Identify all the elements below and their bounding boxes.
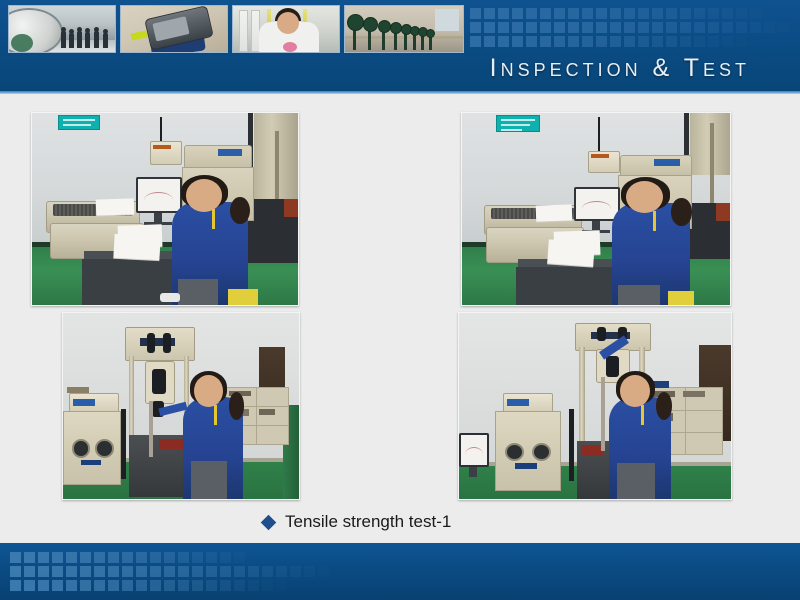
bl-machine-grip — [147, 333, 155, 352]
br-monitor-stand — [469, 467, 477, 477]
br-machine-jaw — [606, 356, 619, 377]
pattern-row — [10, 566, 329, 577]
br-technician-head — [620, 375, 650, 407]
tl-technician-shoe — [160, 293, 180, 302]
bl-console-label — [81, 460, 101, 466]
tr-wall-box — [588, 151, 620, 173]
bl-specimen — [149, 401, 153, 457]
tl-printout — [96, 198, 135, 215]
tl-technician-head — [186, 179, 222, 212]
photo-bottom-right — [458, 312, 732, 500]
pattern-row — [470, 8, 800, 19]
br-monitor-screen — [461, 435, 487, 465]
tr-machine-badge — [716, 203, 730, 221]
br-controller-box — [503, 393, 553, 413]
br-console-dial — [532, 443, 551, 461]
photo-top-left — [31, 112, 299, 306]
thumb1-person — [94, 31, 99, 48]
tl-technician-hair-bun — [230, 197, 250, 225]
bl-console-dial — [95, 439, 114, 457]
thumb4-window — [435, 9, 459, 31]
bl-machine-jaw — [152, 369, 166, 395]
header-square-pattern — [470, 8, 800, 50]
tr-technician-trousers — [618, 285, 660, 305]
br-shelf-item — [683, 391, 705, 397]
tl-technician-trousers — [178, 279, 218, 305]
br-technician-badge — [641, 405, 644, 425]
tr-technician-badge — [653, 211, 657, 231]
bl-technician-head — [194, 375, 223, 407]
thumb2-instrument-screen — [152, 16, 189, 41]
tl-machine-badge — [284, 199, 298, 217]
thumb3-burette — [239, 10, 248, 52]
diamond-bullet-icon — [261, 514, 277, 530]
br-hydraulic-hose — [569, 409, 574, 481]
br-control-console — [495, 411, 561, 491]
br-machine-column — [579, 347, 584, 447]
br-technician-hair-bun — [656, 392, 672, 419]
tl-technician-badge — [212, 209, 216, 229]
thumbnail-lab-technician — [232, 5, 340, 53]
tl-documents — [113, 234, 160, 260]
thumb4-valve-knob — [363, 17, 378, 32]
tl-instrument-display — [218, 149, 242, 156]
tr-machine-ram — [710, 123, 714, 213]
tl-wall-box — [150, 141, 182, 165]
thumbnail-factory-aisle — [8, 5, 116, 53]
bl-console-dial — [72, 439, 91, 457]
thumb1-person — [69, 33, 74, 48]
tr-desk — [516, 267, 622, 305]
bl-controller-box — [69, 393, 119, 413]
thumb3-sample-flask — [283, 42, 297, 52]
pattern-row — [470, 22, 800, 33]
slide-body — [0, 94, 800, 543]
photo-top-right — [461, 112, 731, 306]
thumbnail-handheld-instrument — [120, 5, 228, 53]
footer-square-pattern — [10, 552, 329, 594]
bl-shelf-item — [259, 409, 275, 415]
bl-console-top-item — [67, 387, 89, 393]
slide-header: Inspection & Test — [0, 0, 800, 91]
thumb1-person — [85, 32, 90, 48]
header-thumbnail-strip — [8, 5, 464, 53]
tr-instrument-display — [654, 159, 680, 166]
br-monitor — [459, 433, 489, 467]
thumb3-face — [277, 12, 299, 34]
thumb4-valve-knob — [347, 14, 364, 31]
bl-technician-hair-bun — [229, 392, 245, 419]
thumb1-person — [103, 33, 108, 48]
pattern-row — [10, 552, 329, 563]
thumb1-person — [61, 31, 66, 48]
br-machine-base-stripe — [581, 445, 603, 455]
tl-wall-sign — [58, 115, 100, 130]
bl-hydraulic-hose — [121, 409, 126, 479]
tr-wall-sign — [496, 115, 540, 132]
bl-technician-badge — [214, 405, 217, 425]
pattern-row — [10, 580, 329, 591]
thumb1-vessel-detail — [11, 34, 33, 52]
caption-text: Tensile strength test-1 — [285, 512, 451, 532]
bl-technician-trousers — [191, 461, 227, 499]
slide-caption: Tensile strength test-1 — [0, 508, 800, 536]
bl-control-console — [63, 411, 121, 485]
br-technician-trousers — [617, 463, 655, 499]
thumbnail-valve-row — [344, 5, 464, 53]
br-console-label — [515, 463, 537, 468]
br-console-dial — [505, 443, 524, 461]
thumb4-valve-knob — [426, 29, 435, 38]
thumb1-person — [77, 31, 82, 48]
bl-machine-grip — [163, 333, 171, 352]
tl-yellow-stool — [228, 289, 258, 305]
tr-documents — [547, 239, 595, 266]
tr-printout — [536, 204, 573, 221]
page-title: Inspection & Test — [490, 54, 750, 83]
photo-bottom-left — [62, 312, 300, 500]
tr-yellow-stool — [668, 291, 694, 305]
pattern-row — [470, 36, 800, 47]
br-machine-grip — [597, 327, 606, 342]
slide-footer — [0, 543, 800, 600]
slide-root: Inspection & Test — [0, 0, 800, 600]
tr-technician-hair-bun — [671, 198, 691, 225]
br-specimen — [601, 377, 605, 451]
